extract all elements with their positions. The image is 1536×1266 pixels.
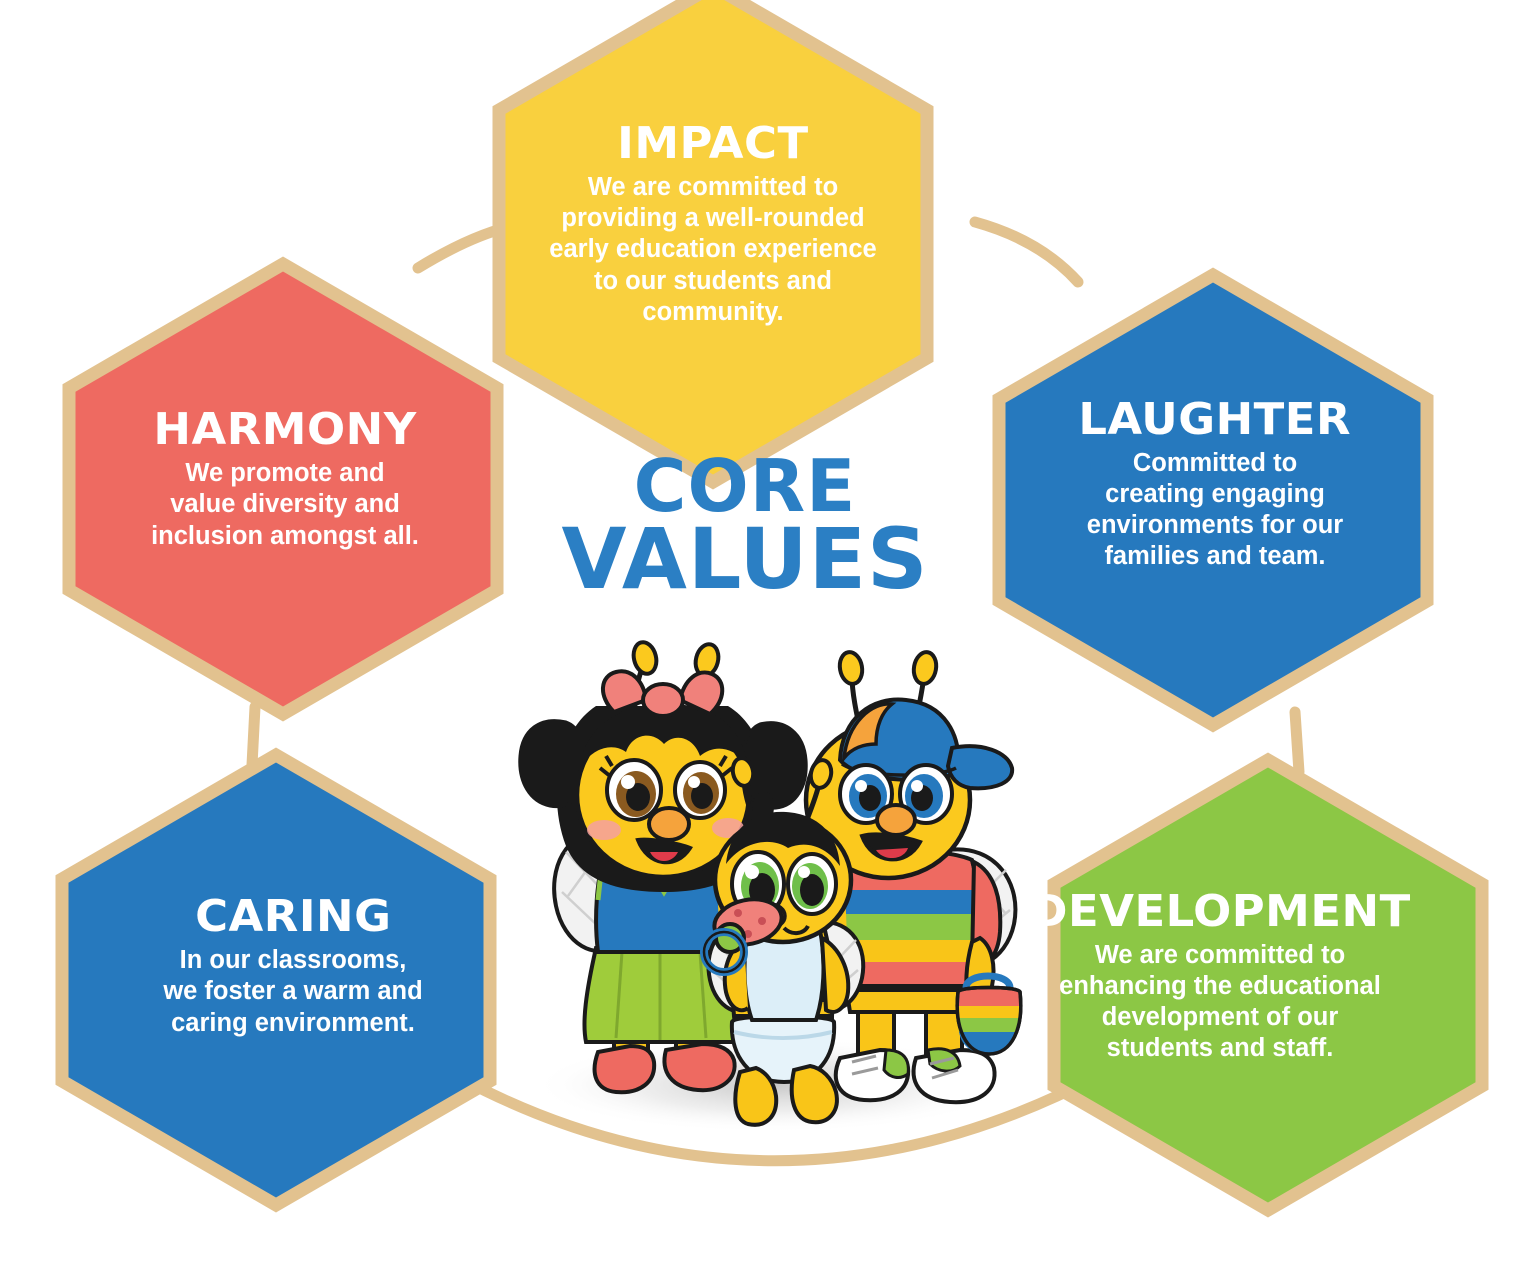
girl-bee-shoe-left bbox=[595, 1046, 655, 1092]
hexagon-harmony[interactable] bbox=[69, 264, 497, 714]
hexagon-development[interactable] bbox=[1054, 760, 1482, 1210]
girl-bee-blush-left bbox=[587, 820, 621, 840]
boy-bee-shoe-right bbox=[914, 1049, 995, 1102]
baby-bee-eye-shine-left bbox=[745, 865, 759, 879]
girl-bee-shoe-right bbox=[664, 1044, 734, 1090]
infographic-canvas bbox=[0, 0, 1536, 1266]
girl-bee-eye-shine-right bbox=[688, 776, 700, 788]
baby-bee-eye-shine-right bbox=[798, 866, 810, 878]
hexagon-impact[interactable] bbox=[499, 0, 927, 482]
baby-bee-pupil-right bbox=[800, 874, 824, 906]
connector-harmony-caring bbox=[252, 707, 255, 765]
bee-family-illustration bbox=[520, 640, 1021, 1125]
girl-bee-nose bbox=[649, 808, 689, 840]
boy-bee-bucket bbox=[957, 976, 1021, 1054]
connector-laughter-development bbox=[1295, 712, 1299, 772]
girl-bee-antenna-ball-left bbox=[630, 640, 659, 676]
boy-bee-antenna-ball-left bbox=[837, 650, 864, 685]
girl-bee-bow-knot bbox=[643, 684, 683, 716]
girl-bee-eye-shine-left bbox=[621, 775, 635, 789]
core-values-infographic: IMPACT We are committed to providing a w… bbox=[0, 0, 1536, 1266]
hexagon-laughter[interactable] bbox=[999, 275, 1427, 725]
boy-bee-nose bbox=[877, 805, 915, 835]
baby-bee-leg-left bbox=[735, 1068, 776, 1125]
boy-bee-eye-shine-right bbox=[911, 780, 923, 792]
boy-bee-cap-brim bbox=[948, 746, 1012, 788]
boy-bee-antenna-ball-right bbox=[911, 650, 938, 685]
boy-bee-eye-shine-left bbox=[855, 780, 867, 792]
hexagon-caring[interactable] bbox=[62, 755, 490, 1205]
connector-impact-laughter bbox=[975, 222, 1078, 282]
boy-bee-shoe-left bbox=[836, 1050, 909, 1100]
